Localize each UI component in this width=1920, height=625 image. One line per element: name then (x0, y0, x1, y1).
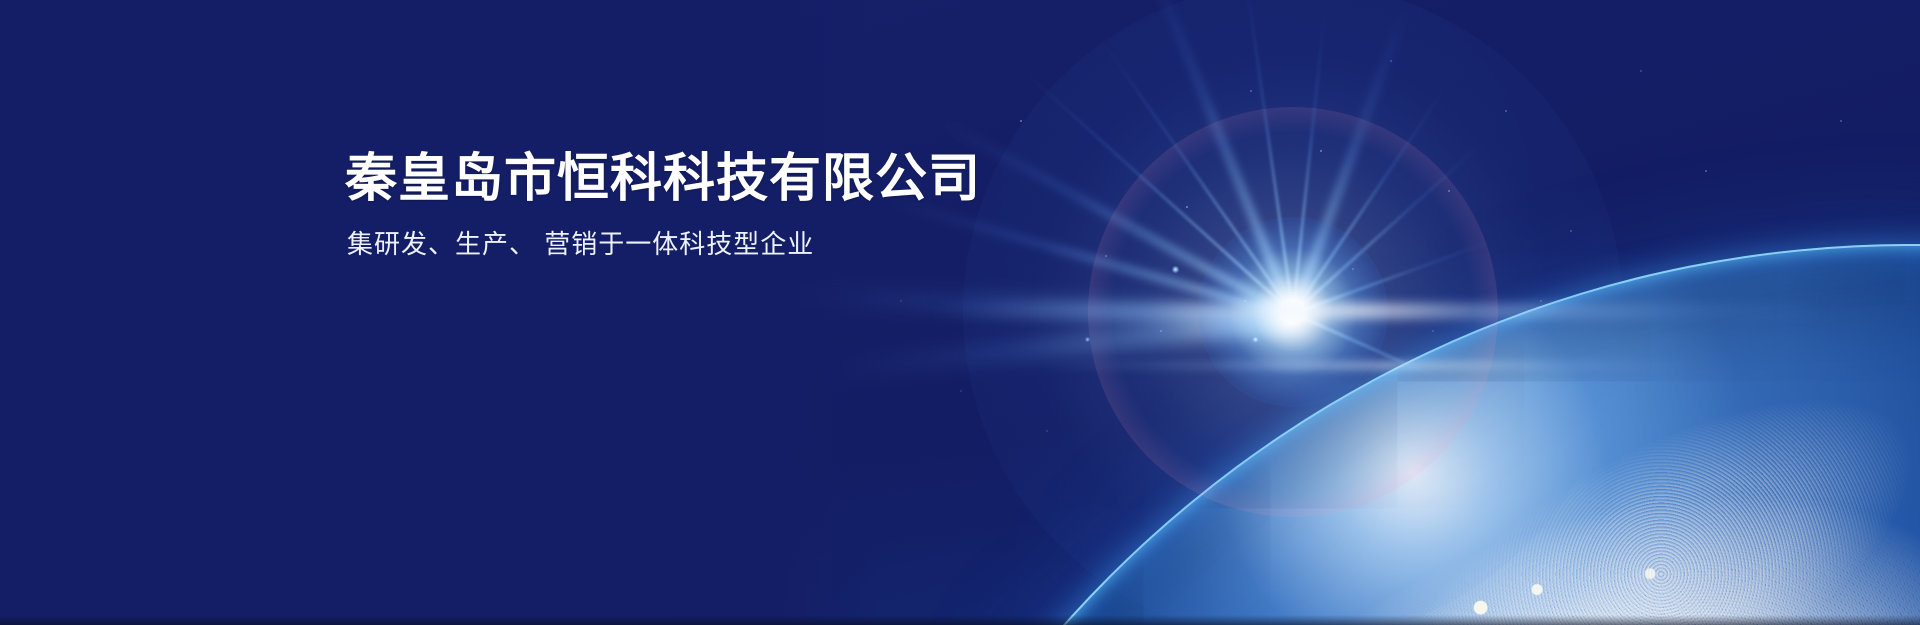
hero-banner: 秦皇岛市恒科科技有限公司 集研发、生产、 营销于一体科技型企业 (0, 0, 1920, 625)
company-name-headline: 秦皇岛市恒科科技有限公司 (345, 152, 981, 207)
hero-copy: 秦皇岛市恒科科技有限公司 集研发、生产、 营销于一体科技型企业 (345, 152, 981, 260)
company-tagline: 集研发、生产、 营销于一体科技型企业 (347, 229, 981, 260)
